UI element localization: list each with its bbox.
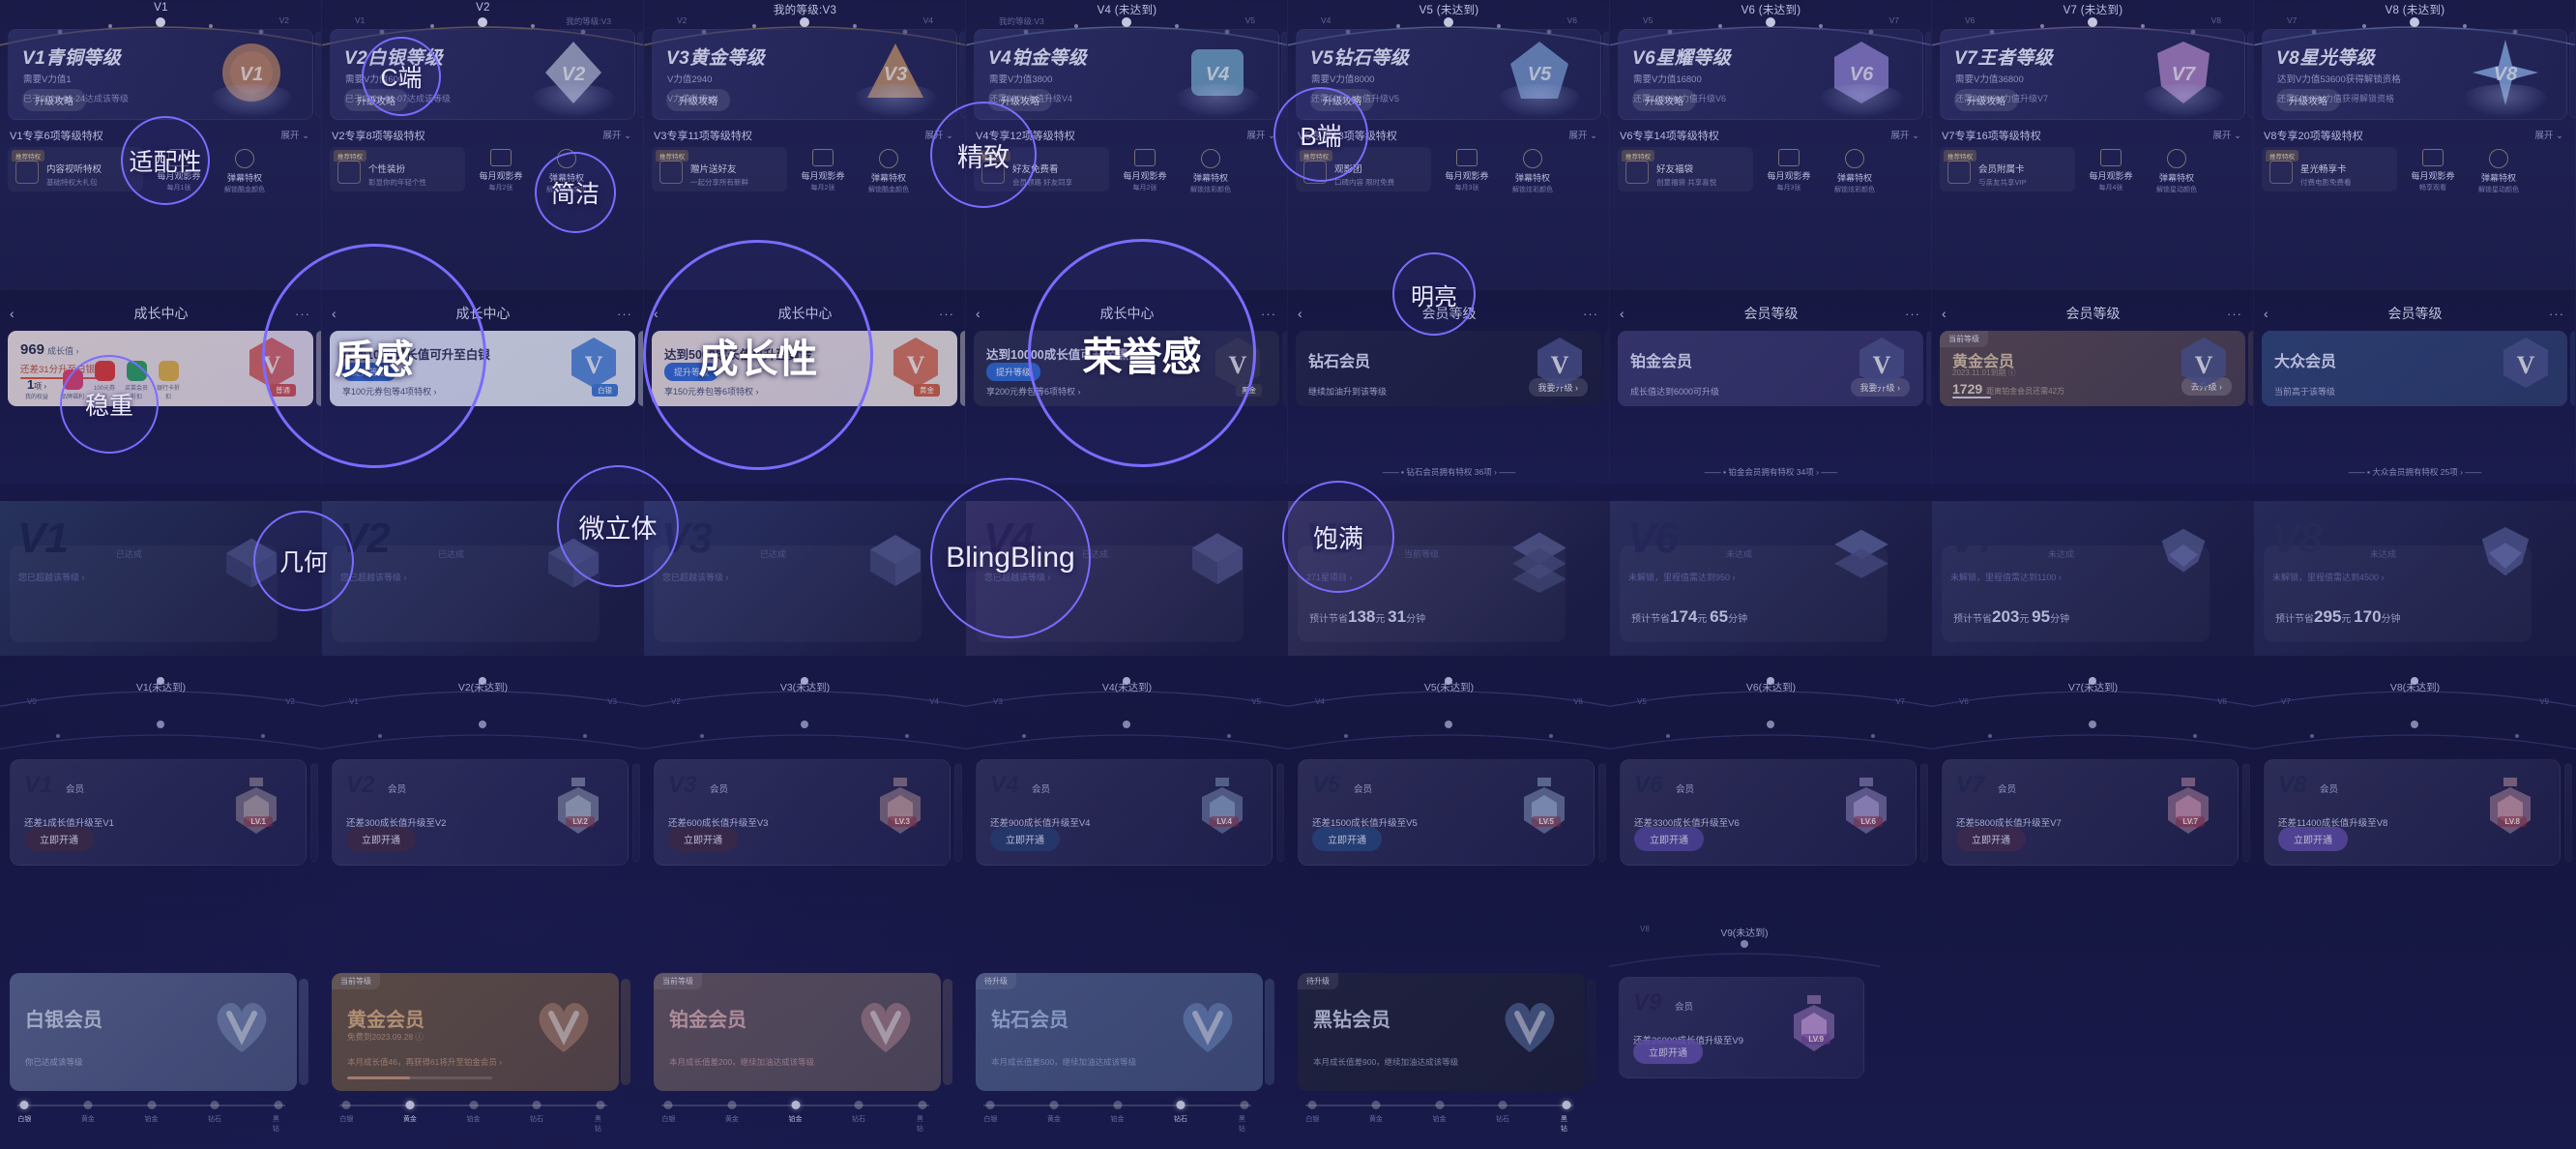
level-note: 您已超越该等级 › [18,571,85,583]
annotation-bubble: 精致 [930,102,1037,208]
danmaku-icon [2489,149,2508,168]
stepper-dot[interactable] [791,1101,800,1109]
level-banner[interactable]: V7 未达成 未解锁，里程值需达到1100 › 预计节省203元 95分钟 [1932,501,2254,656]
next-tier-card-peek[interactable] [943,979,952,1085]
level-card[interactable]: V6星耀等级 需要V力值16800 还需13860V力值升级V6 升级攻略 V6 [1618,29,1923,120]
current-level-label: V5 (未达到) [1288,2,1610,17]
featured-privilege[interactable]: 推荐特权 个性装扮 彰显你的年轻个性 [330,147,465,191]
next-level-card-peek[interactable] [1603,31,1610,118]
page-title: 会员等级 [2254,304,2576,323]
medal-level-screen: V8 会员 还差11400成长值升级至V8 立即开通 LV.8 [2254,721,2576,957]
stepper-dot[interactable] [147,1101,156,1109]
membership-tier-screen: 当前等级 黄金会员 免费到2023.09.28 ⓘ 本月成长值46，再获得61将… [322,957,644,1149]
privilege-item[interactable]: 弹幕特权 解锁炫彩颜色 [1825,147,1885,194]
more-icon[interactable]: ··· [1261,307,1276,321]
membership-card[interactable]: V8 会员 还差11400成长值升级至V8 立即开通 LV.8 [2264,759,2561,866]
stepper-dot[interactable] [342,1101,351,1109]
tier-name: 白银会员 [25,1004,102,1032]
level-banner[interactable]: V6 未达成 未解锁，里程值需达到950 › 预计节省174元 65分钟 [1610,501,1932,656]
privilege-item[interactable]: 每月观影券 每月3张 [1759,147,1819,192]
level-kind: 会员 [710,781,728,795]
current-level-label: 我的等级:V3 [644,2,966,17]
level-state: 未达成 [2048,547,2074,560]
tier-progress-bar [347,1076,492,1079]
membership-card[interactable]: V4 会员 还差900成长值升级至V4 立即开通 LV.4 [976,759,1273,866]
privilege-item-desc: 解锁酷金颜色 [215,185,275,194]
next-tier-card-peek[interactable] [2570,331,2576,406]
geometric-level-screen: V3 已达成 您已超越该等级 › V3(未达到) V2 V4 [644,484,966,721]
privilege-item[interactable]: 弹幕特权 解锁酷金颜色 [215,147,275,194]
stepper-prev: V6 [1959,697,1969,706]
stepper-dot[interactable] [1562,1101,1570,1109]
next-tier-card-peek[interactable] [1587,979,1596,1085]
stepper-dot[interactable] [211,1101,220,1109]
privilege-item[interactable]: 弹幕特权 解锁星动颜色 [2147,147,2207,194]
next-membership-card-peek[interactable] [632,763,640,862]
privilege-item[interactable]: 每月观影券 每月3张 [1437,147,1497,192]
membership-card[interactable]: V3 会员 还差600成长值升级至V3 立即开通 LV.3 [654,759,951,866]
next-level-card-peek[interactable] [637,31,644,118]
privilege-item[interactable]: 每月观影券 畅享观看 [2403,147,2463,192]
upgrade-guide-button[interactable]: 升级攻略 [1632,89,1696,111]
next-membership-card-peek[interactable] [310,763,318,862]
expand-privileges-button[interactable]: 展开 ⌄ [2534,128,2563,141]
isometric-shape-icon [2464,518,2547,602]
membership-card[interactable]: V6 会员 还差3300成长值升级至V6 立即开通 LV.6 [1620,759,1917,866]
featured-privilege[interactable]: 推荐特权 会员附属卡 与亲友共享VIP [1940,147,2075,191]
activate-now-button[interactable]: 立即开通 [1634,827,1704,851]
tier-card[interactable]: 当前等级 黄金会员 免费到2023.09.28 ⓘ 本月成长值46，再获得61将… [332,973,619,1091]
annotation-label: 明亮 [1411,278,1457,311]
level-chip: LV.3 [888,816,917,827]
rank-medal-icon [1516,774,1572,841]
expand-privileges-button[interactable]: 展开 ⌄ [2212,128,2241,141]
geometric-level-screen: V7 未达成 未解锁，里程值需达到1100 › 预计节省203元 95分钟 V7… [1932,484,2254,721]
more-icon[interactable]: ··· [1905,307,1920,321]
level-note: 未解锁，里程值需达到4500 › [2272,571,2385,583]
stepper-prev: V8 [1640,925,1650,933]
isometric-shape-icon [1176,518,1259,602]
privilege-item-desc: 畅享观看 [2403,183,2463,192]
level-number: V8 [2278,772,2306,799]
privilege-item[interactable]: 每月观影券 每月2张 [1115,147,1175,192]
stepper-label: 钻石 [530,1114,543,1124]
level-kind: 会员 [2320,781,2338,795]
annotation-label: 荣誉感 [1083,324,1202,382]
membership-card[interactable]: V9 会员 还差26000成长值升级至V9 立即开通 LV.9 [1619,977,1864,1078]
annotation-bubble: 质感 [262,244,486,468]
tier-stepper: 白银 黄金 铂金 钻石 黑钻 [336,1099,611,1128]
stepper-label: V8(未达到) [2254,680,2576,694]
annotation-bubble: 微立体 [557,465,679,587]
current-level-label: V2 [322,2,644,14]
next-membership-card-peek[interactable] [2242,763,2250,862]
level-detail-screen: V7 (未达到) V6 V8 V7王者等级 需要V力值36800 还需33860… [1932,0,2254,290]
level-arc-strip [644,721,966,753]
stepper-next: V8 [2217,697,2227,706]
tier-card[interactable]: 当前等级 铂金会员 本月成长值差200，继续加油达成该等级 [654,973,941,1091]
level-stepper: V3(未达到) V2 V4 [644,676,966,721]
upgrade-guide-button[interactable]: 升级攻略 [666,89,730,111]
stepper-dot[interactable] [664,1101,673,1109]
stepper-label: V4(未达到) [966,680,1288,694]
svg-text:V3: V3 [884,64,907,85]
next-tier-card-peek[interactable] [1265,979,1274,1085]
more-icon[interactable]: ··· [617,307,632,321]
activate-now-button[interactable]: 立即开通 [2278,827,2348,851]
growth-center-screen: ‹ 会员等级 ··· 铂金会员 成长值达到6000可升级 我要升级 › V ——… [1610,290,1932,484]
next-level-label: 我的等级:V3 [566,15,611,27]
privilege-item[interactable]: 弹幕特权 解锁酷金颜色 [859,147,919,194]
svg-text:V2: V2 [562,64,585,85]
tier-tag: 当前等级 [332,973,380,989]
level-banner[interactable]: V8 未达成 未解锁，里程值需达到4500 › 预计节省295元 170分钟 [2254,501,2576,656]
medal-level-screen: V2 会员 还差300成长值升级至V2 立即开通 LV.2 [322,721,644,957]
level-state: 已达成 [438,547,464,560]
tier-card[interactable]: 白银会员 你已达成该等级 [10,973,297,1091]
v-heart-icon [1492,987,1567,1062]
danmaku-icon [1523,149,1542,168]
stepper-prev: V7 [2281,697,2291,706]
privilege-list: 推荐特权 星光畅享卡 付费电影免费看 每月观影券 畅享观看 弹幕特权 解锁星动颜… [2262,147,2567,191]
activate-now-button[interactable]: 立即开通 [24,827,94,851]
ticket-icon [812,149,834,166]
expand-privileges-button[interactable]: 展开 ⌄ [1890,128,1919,141]
privilege-item-name: 弹幕特权 [215,171,275,184]
pedestal-decoration [2464,84,2547,117]
isometric-shape-icon [2142,518,2225,602]
current-level-tag: 当前等级 [1940,331,1988,347]
next-level-card-peek[interactable] [2569,31,2576,118]
more-icon[interactable]: ··· [2549,307,2564,321]
annotation-label: 微立体 [579,508,658,545]
stepper-label: 黑钻 [1239,1114,1249,1134]
level-title: V1青铜等级 [22,44,121,70]
membership-tier-screen: 待升级 钻石会员 本月成长值差500，继续加油达成该等级 白银 黄金 [966,957,1288,1149]
estimated-savings: 预计节省174元 65分钟 [1631,607,1747,627]
membership-card[interactable]: V1 会员 还差1成长值升级至V1 立即开通 LV.1 [10,759,307,866]
membership-card[interactable]: V5 会员 还差1500成长值升级至V5 立即开通 LV.5 [1298,759,1595,866]
privilege-item-name: 弹幕特权 [2469,171,2529,184]
v-badge-icon: V [2176,335,2232,391]
tier-expiry: 免费到2023.09.28 ⓘ [347,1031,424,1043]
tier-progress-note: 本月成长值差200，继续加油达成该等级 [669,1056,814,1068]
level-requirement: 需要V力值8000 [1311,72,1374,85]
danmaku-icon [1201,149,1220,168]
next-membership-card-peek[interactable] [1276,763,1284,862]
medal-level-screen: V4 会员 还差900成长值升级至V4 立即开通 LV.4 [966,721,1288,957]
medal-level-screen: V7 会员 还差5800成长值升级至V7 立即开通 LV.7 [1932,721,2254,957]
tier-stepper: 白银 黄金 铂金 钻石 黑钻 [14,1099,289,1128]
medal-level-screen-v9: V9(未达到) V8 V9 会员 还差26000成长值升级至V9 立即开通 LV… [1609,938,1880,1141]
stepper-next: V3 [607,697,617,706]
activate-now-button[interactable]: 立即开通 [1312,827,1382,851]
privilege-list: 推荐特权 会员附属卡 与亲友共享VIP 每月观影券 每月4张 弹幕特权 解锁星动… [1940,147,2245,191]
stepper-dot[interactable] [727,1101,736,1109]
geometric-level-screen: V8 未达成 未解锁，里程值需达到4500 › 预计节省295元 170分钟 V… [2254,484,2576,721]
level-title: V6星耀等级 [1632,44,1731,70]
v-heart-icon [526,987,601,1062]
stepper-dot[interactable] [469,1101,478,1109]
tier-summary-card[interactable]: 当前等级 黄金会员 2023.11.01到期 ⓘ 1729距离铂金会员还需42万… [1940,331,2245,406]
membership-card[interactable]: V2 会员 还差300成长值升级至V2 立即开通 LV.2 [332,759,629,866]
v-heart-icon [848,987,923,1062]
level-requirement: 需要V力值3800 [989,72,1052,85]
svg-text:V5: V5 [1528,64,1552,85]
stepper-label: 铂金 [789,1114,803,1124]
level-stepper: V8(未达到) V7 V9 [2254,676,2576,721]
annotation-label: B端 [1300,117,1341,153]
level-chip: LV.5 [1532,816,1561,827]
annotation-label: 精致 [957,136,1010,174]
nav-bar: ‹ 会员等级 ··· [1610,304,1932,327]
annotation-bubble: 明亮 [1392,252,1476,336]
level-card[interactable]: V8星光等级 达到V力值53600获得解锁资格 还需50660V力值获得解锁资格… [2262,29,2567,120]
tier-note: 成长值达到6000可升级 [1630,385,1719,398]
upgrade-guide-button[interactable]: 升级攻略 [1954,89,2018,111]
level-card[interactable]: V4铂金等级 需要V力值3800 还需860V力值升级V4 升级攻略 V4 [974,29,1279,120]
ticket-icon [1456,149,1478,166]
privilege-item[interactable]: 每月观影券 每月2张 [471,147,531,192]
svg-text:V1: V1 [240,64,263,85]
level-stepper: V5(未达到) V4 V6 [1288,676,1610,721]
stepper-dot[interactable] [1308,1101,1317,1109]
level-stepper: V4(未达到) V3 V5 [966,676,1288,721]
level-detail-screen: V8 (未达到) V7 V8星光等级 达到V力值53600获得解锁资格 还需50… [2254,0,2576,290]
tier-name: 黄金会员 [347,1004,424,1032]
privilege-desc: 一起分享所有新鲜 [690,177,781,188]
stepper-dot[interactable] [83,1101,92,1109]
expand-privileges-button[interactable]: 展开 ⌄ [602,128,631,141]
current-level-label: V8 (未达到) [2254,2,2576,17]
privilege-item-name: 弹幕特权 [2147,171,2207,184]
level-kind: 会员 [1354,781,1372,795]
activate-now-button[interactable]: 立即开通 [346,827,416,851]
pedestal-decoration [532,84,615,117]
arc-line [0,721,322,753]
tier-progress-note: 本月成长值46，再获得61将升至铂金会员 › [347,1056,502,1068]
stepper-dot[interactable] [1177,1101,1186,1109]
stepper-next: V4 [929,697,939,706]
membership-card[interactable]: V7 会员 还差5800成长值升级至V7 立即开通 LV.7 [1942,759,2239,866]
privilege-item-desc: 每月3张 [1759,183,1819,192]
privilege-list: 推荐特权 好友福袋 创意福袋 共享喜悦 每月观影券 每月3张 弹幕特权 解锁炫彩… [1618,147,1923,191]
next-tier-card-peek[interactable] [621,979,630,1085]
stepper-dot[interactable] [274,1101,282,1109]
stepper-dot[interactable] [20,1101,29,1109]
level-kind: 会员 [1675,999,1693,1013]
benefit-item[interactable]: 银行卡折扣 [156,361,181,400]
tier-summary-card[interactable]: 铂金会员 成长值达到6000可升级 我要升级 › V [1618,331,1923,406]
privilege-icon [15,161,39,184]
level-kind: 会员 [66,781,84,795]
level-state: 未达成 [1726,547,1752,560]
privilege-count-link[interactable]: —— ▪ 钻石会员拥有特权 36项 › —— [1288,466,1610,478]
benefit-icon [159,361,179,381]
level-number: V7 [1956,772,1984,799]
privilege-count-link[interactable]: —— ▪ 大众会员拥有特权 25项 › —— [2254,466,2576,478]
stepper-label: V6(未达到) [1610,680,1932,694]
tier-card[interactable]: 待升级 钻石会员 本月成长值差500，继续加油达成该等级 [976,973,1263,1091]
featured-privilege[interactable]: 推荐特权 赠片送好友 一起分享所有新鲜 [652,147,787,191]
featured-privilege[interactable]: 推荐特权 好友福袋 创意福袋 共享喜悦 [1618,147,1753,191]
level-arc-strip [966,721,1288,753]
privilege-item-name: 弹幕特权 [1503,171,1563,184]
stepper-dot[interactable] [596,1101,604,1109]
privilege-item-desc: 解锁炫彩颜色 [1503,185,1563,194]
stepper-dot[interactable] [986,1101,995,1109]
tier-summary-card[interactable]: 大众会员 当前高于该等级 V [2262,331,2567,406]
stepper-dot[interactable] [1435,1101,1444,1109]
privilege-item[interactable]: 弹幕特权 解锁炫彩颜色 [1181,147,1241,194]
expand-privileges-button[interactable]: 展开 ⌄ [280,128,309,141]
next-membership-card-peek[interactable] [954,763,962,862]
next-level-label: V6 [1567,15,1577,25]
stepper-label: 白银 [17,1114,31,1124]
stepper-dot[interactable] [405,1101,414,1109]
v-badge-icon: V [1532,335,1588,391]
privilege-name: 会员附属卡 [1978,162,2069,175]
stepper-label: 黑钻 [917,1114,927,1134]
level-kind: 会员 [388,781,406,795]
privilege-item-name: 弹幕特权 [1825,171,1885,184]
level-arc-strip [322,721,644,753]
svg-text:V: V [2195,351,2213,379]
next-membership-card-peek[interactable] [1920,763,1928,862]
stepper-dot[interactable] [1499,1101,1508,1109]
more-icon[interactable]: ··· [939,307,954,321]
pedestal-decoration [1820,84,1903,117]
rank-medal-icon [1838,774,1894,841]
next-membership-card-peek[interactable] [1598,763,1606,862]
privilege-section-title: V6专享14项等级特权 [1620,128,1719,143]
stepper-label: 黑钻 [273,1114,283,1134]
ticket-icon [2422,149,2444,166]
tier-chip: 黄金 [914,384,940,397]
isometric-shape-icon [1498,518,1581,602]
privilege-item-desc: 每月3张 [1437,183,1497,192]
stepper-prev: V0 [27,697,37,706]
stepper-label: 白银 [661,1114,675,1124]
level-state: 已达成 [760,547,786,560]
v-badge-icon: V [1854,335,1910,391]
medal-level-screen: V3 会员 还差600成长值升级至V3 立即开通 LV.3 [644,721,966,957]
danmaku-icon [1845,149,1864,168]
level-state: 未达成 [2370,547,2396,560]
membership-tier-screen: 当前等级 铂金会员 本月成长值差200，继续加油达成该等级 白银 黄金 [644,957,966,1149]
annotation-label: 适配性 [129,143,201,178]
arc-line [1610,721,1932,753]
more-icon[interactable]: ··· [2227,307,2242,321]
annotation-bubble: B端 [1273,87,1368,182]
tier-name: 钻石会员 [1308,348,1370,371]
membership-tier-screen: 待升级 黑钻会员 本月成长值差900，继续加油达成该等级 白银 黄金 [1288,957,1610,1149]
stepper-label: 黄金 [1047,1114,1061,1124]
level-number: V3 [668,772,696,799]
stepper-dot[interactable] [1113,1101,1122,1109]
privilege-item-desc: 解锁酷金颜色 [859,185,919,194]
more-icon[interactable]: ··· [1583,307,1598,321]
level-chip: LV.8 [2498,816,2527,827]
level-requirement: V力值2940 [667,72,712,85]
activate-now-button[interactable]: 立即开通 [668,827,738,851]
stepper-dot[interactable] [1240,1101,1248,1109]
stepper-label: 铂金 [1111,1114,1125,1124]
level-title: V5钻石等级 [1310,44,1409,70]
level-stepper: V6(未达到) V5 V7 [1610,676,1932,721]
privilege-item[interactable]: 每月观影券 每月4张 [2081,147,2141,192]
nav-bar: ‹ 会员等级 ··· [1932,304,2254,327]
stepper-label: 白银 [339,1114,353,1124]
next-level-card-peek[interactable] [2247,31,2254,118]
my-benefits[interactable]: 1项 › 我的权益 [20,377,53,400]
pedestal-decoration [1498,84,1581,117]
next-membership-card-peek[interactable] [2564,763,2572,862]
level-card[interactable]: V7王者等级 需要V力值36800 还需33860V力值升级V7 升级攻略 V7 [1940,29,2245,120]
level-note: 未解锁，里程值需达到1100 › [1950,571,2062,583]
privilege-desc: 基础特权大礼包 [46,177,137,188]
next-level-label: V5 [1245,15,1255,25]
privilege-item[interactable]: 弹幕特权 解锁星动颜色 [2469,147,2529,194]
tier-progress-bar [1952,397,1991,398]
prev-level-label: V1 [355,15,365,25]
moodboard-canvas: V1 V2 V1青铜等级 需要V力值1 已于2022-05-24达成该等级 升级… [0,0,2576,1149]
level-card[interactable]: V3黄金等级 V力值2940 V力值升级V4 升级攻略 V3 [652,29,957,120]
tier-expiry: 2023.11.01到期 ⓘ [1952,368,2016,378]
stepper-dot[interactable] [918,1101,926,1109]
activate-now-button[interactable]: 立即开通 [990,827,1060,851]
level-card[interactable]: V1青铜等级 需要V力值1 已于2022-05-24达成该等级 升级攻略 V1 [8,29,313,120]
upgrade-guide-button[interactable]: 升级攻略 [2276,89,2340,111]
annotation-bubble: 稳重 [60,355,159,454]
stepper-dot[interactable] [533,1101,542,1109]
expand-privileges-button[interactable]: 展开 ⌄ [1568,128,1597,141]
arc-line [322,721,644,753]
activate-now-button[interactable]: 立即开通 [1956,827,2026,851]
next-tier-card-peek[interactable] [299,979,308,1085]
level-chip: LV.2 [566,816,595,827]
level-kind: 会员 [1998,781,2016,795]
arc-line [2254,721,2576,753]
upgrade-guide-button[interactable]: 升级攻略 [22,89,86,111]
expand-privileges-button[interactable]: 展开 ⌄ [1246,128,1275,141]
privilege-count-link[interactable]: —— ▪ 铂金会员拥有特权 34项 › —— [1610,466,1932,478]
annotation-label: 饱满 [1313,519,1363,555]
privilege-item-desc: 解锁星动颜色 [2147,185,2207,194]
danmaku-icon [235,149,254,168]
privilege-item[interactable]: 弹幕特权 解锁炫彩颜色 [1503,147,1563,194]
next-level-card-peek[interactable] [1925,31,1932,118]
stepper-dot[interactable] [1371,1101,1380,1109]
rank-medal-icon [2160,774,2216,841]
geometric-level-screen: V6 未达成 未解锁，里程值需达到950 › 预计节省174元 65分钟 V6(… [1610,484,1932,721]
stepper-dot[interactable] [855,1101,864,1109]
privilege-item-desc: 每月2张 [793,183,853,192]
privilege-item-name: 每月观影券 [2403,169,2463,182]
privilege-item[interactable]: 每月观影券 每月2张 [793,147,853,192]
level-arc-strip [1288,721,1610,753]
next-level-card-peek[interactable] [315,31,322,118]
activate-now-button[interactable]: 立即开通 [1633,1040,1703,1064]
annotation-bubble: C端 [362,37,441,116]
tier-summary-card[interactable]: 钻石会员 继续加油升到该等级 我要升级 › V [1296,331,1601,406]
featured-privilege[interactable]: 推荐特权 星光畅享卡 付费电影免费看 [2262,147,2397,191]
prev-level-label: V5 [1643,15,1653,25]
stepper-dot[interactable] [1049,1101,1058,1109]
tier-card[interactable]: 待升级 黑钻会员 本月成长值差900，继续加油达成该等级 [1298,973,1585,1091]
level-banner[interactable]: V3 已达成 您已超越该等级 › [644,501,966,656]
tier-tag: 待升级 [976,973,1016,989]
